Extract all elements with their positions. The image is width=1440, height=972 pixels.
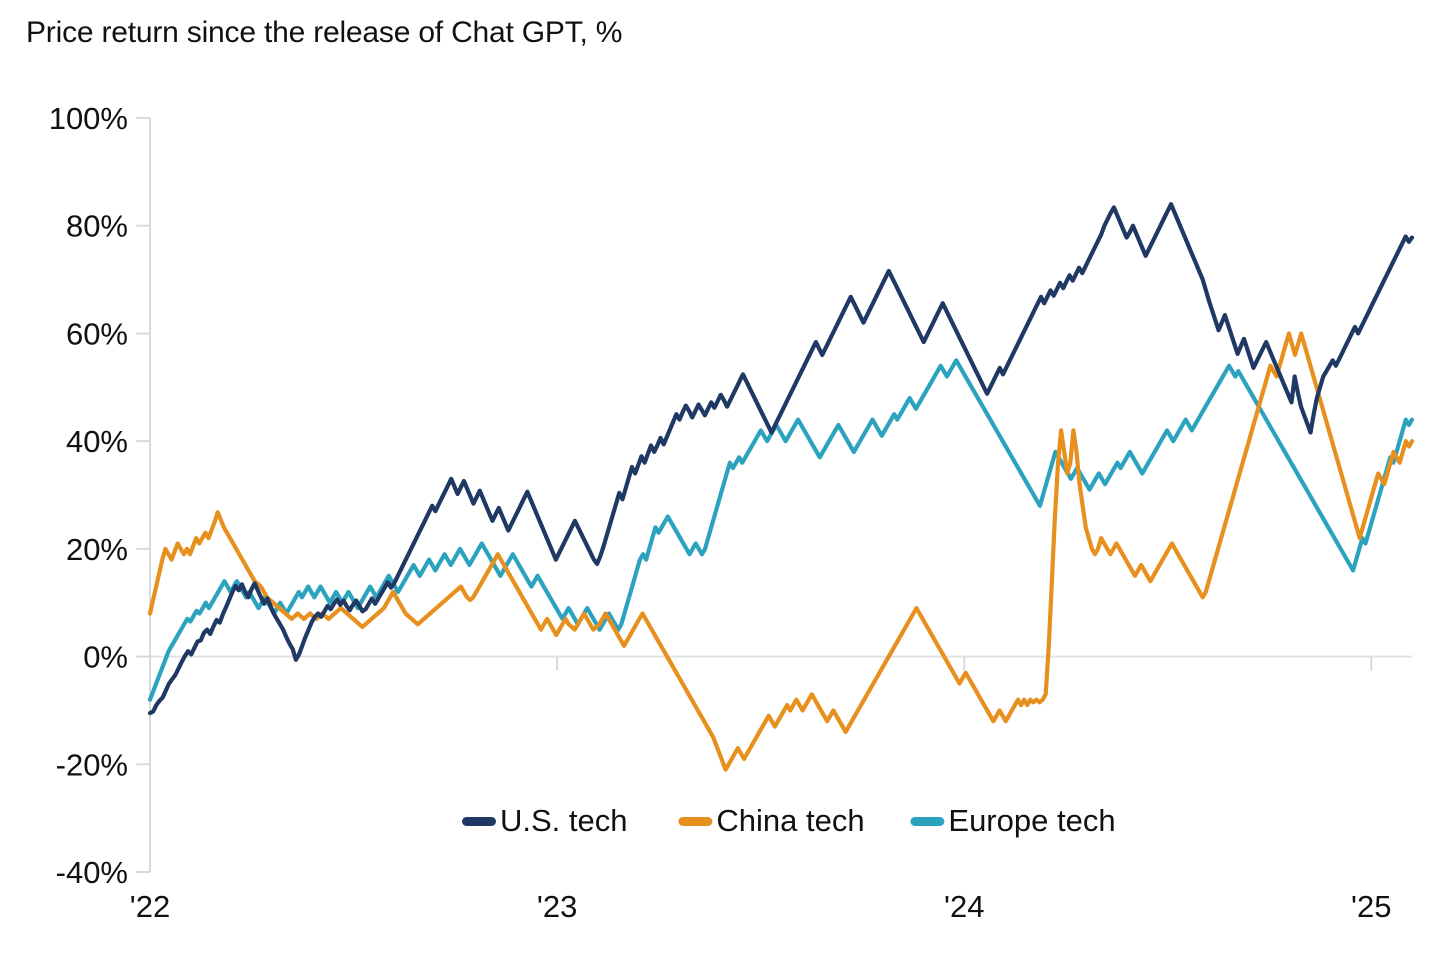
legend-item-u-s-tech[interactable]: U.S. tech [462, 803, 628, 838]
x-axis-tick-label: '25 [1351, 889, 1391, 924]
y-axis-tick-label: 40% [66, 424, 128, 459]
series-line-china-tech [150, 333, 1412, 769]
x-axis-labels-group: '22'23'24'25 [130, 889, 1392, 924]
x-axis-tick-label: '23 [537, 889, 577, 924]
series-group [150, 204, 1412, 770]
x-axis-tick-label: '22 [130, 889, 170, 924]
y-axis-tick-label: 100% [49, 101, 128, 136]
legend-item-china-tech[interactable]: China tech [678, 803, 864, 838]
legend-swatch-icon [910, 817, 944, 826]
y-axis-labels-group: 100%80%60%40%20%0%-20%-40% [49, 101, 128, 890]
legend-label: U.S. tech [500, 803, 628, 838]
y-axis-tick-label: -40% [56, 855, 128, 890]
y-axis-tick-label: 60% [66, 316, 128, 351]
legend-swatch-icon [678, 817, 712, 826]
legend-swatch-icon [462, 817, 496, 826]
chart-plot-svg: 100%80%60%40%20%0%-20%-40% '22'23'24'25 … [0, 0, 1440, 972]
legend-group[interactable]: U.S. techChina techEurope tech [462, 803, 1116, 838]
y-axis-ticks-group [136, 118, 150, 872]
legend-label: Europe tech [948, 803, 1115, 838]
y-axis-tick-label: 80% [66, 209, 128, 244]
legend-item-europe-tech[interactable]: Europe tech [910, 803, 1115, 838]
legend-label: China tech [716, 803, 864, 838]
x-axis-ticks-group [557, 657, 1371, 671]
y-axis-tick-label: -20% [56, 747, 128, 782]
x-axis-tick-label: '24 [944, 889, 984, 924]
series-line-u-s-tech [150, 204, 1412, 713]
y-axis-tick-label: 20% [66, 532, 128, 567]
y-axis-tick-label: 0% [83, 640, 128, 675]
chart-container: Price return since the release of Chat G… [0, 0, 1440, 972]
